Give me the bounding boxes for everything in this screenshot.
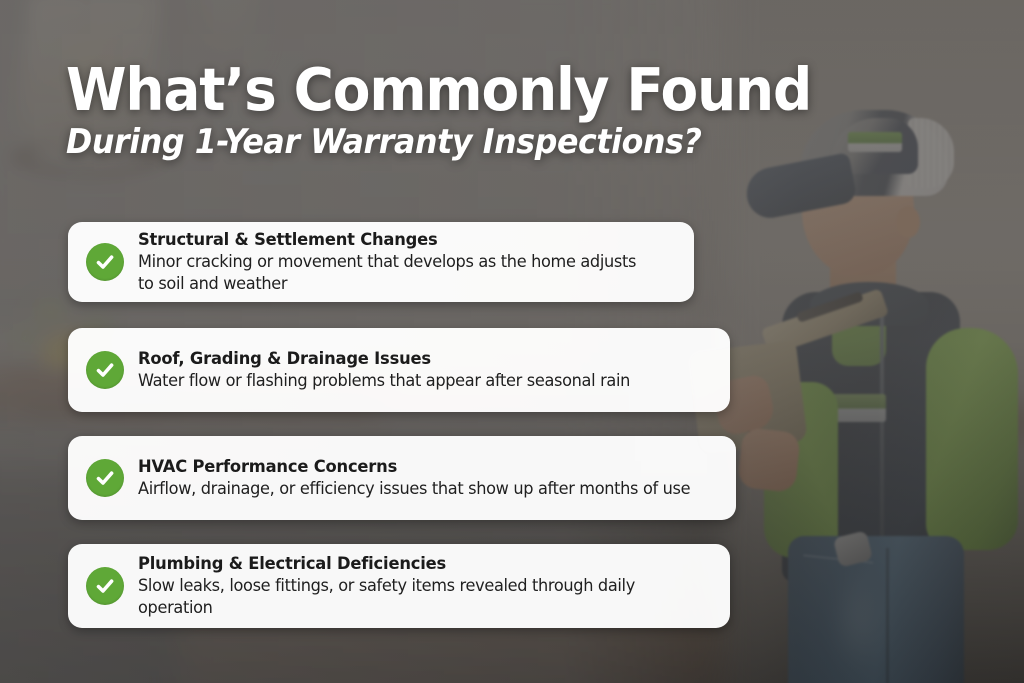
list-item-body: HVAC Performance Concerns Airflow, drain… <box>138 457 719 500</box>
list-item-title: Plumbing & Electrical Deficiencies <box>138 554 691 575</box>
page-subtitle: During 1-Year Warranty Inspections? <box>66 122 773 162</box>
list-item: Plumbing & Electrical Deficiencies Slow … <box>68 544 730 628</box>
headline-block: What’s Commonly Found During 1-Year Warr… <box>66 60 826 162</box>
list-item-body: Roof, Grading & Drainage Issues Water fl… <box>138 349 656 392</box>
page-title: What’s Commonly Found <box>66 60 773 120</box>
list-item-description: Airflow, drainage, or efficiency issues … <box>138 478 690 500</box>
list-item-title: Roof, Grading & Drainage Issues <box>138 349 635 370</box>
list-item-title: HVAC Performance Concerns <box>138 457 696 478</box>
infographic-stage: What’s Commonly Found During 1-Year Warr… <box>0 0 1024 683</box>
list-item: Structural & Settlement Changes Minor cr… <box>68 222 694 302</box>
list-item-description: Slow leaks, loose fittings, or safety it… <box>138 575 685 619</box>
list-item-title: Structural & Settlement Changes <box>138 230 656 251</box>
check-circle-icon <box>86 567 124 605</box>
list-item-body: Structural & Settlement Changes Minor cr… <box>138 230 678 295</box>
check-circle-icon <box>86 351 124 389</box>
list-item: Roof, Grading & Drainage Issues Water fl… <box>68 328 730 412</box>
list-item: HVAC Performance Concerns Airflow, drain… <box>68 436 736 520</box>
list-item-description: Water flow or flashing problems that app… <box>138 370 630 392</box>
list-item-description: Minor cracking or movement that develops… <box>138 251 651 295</box>
check-circle-icon <box>86 459 124 497</box>
list-item-body: Plumbing & Electrical Deficiencies Slow … <box>138 554 714 619</box>
check-circle-icon <box>86 243 124 281</box>
